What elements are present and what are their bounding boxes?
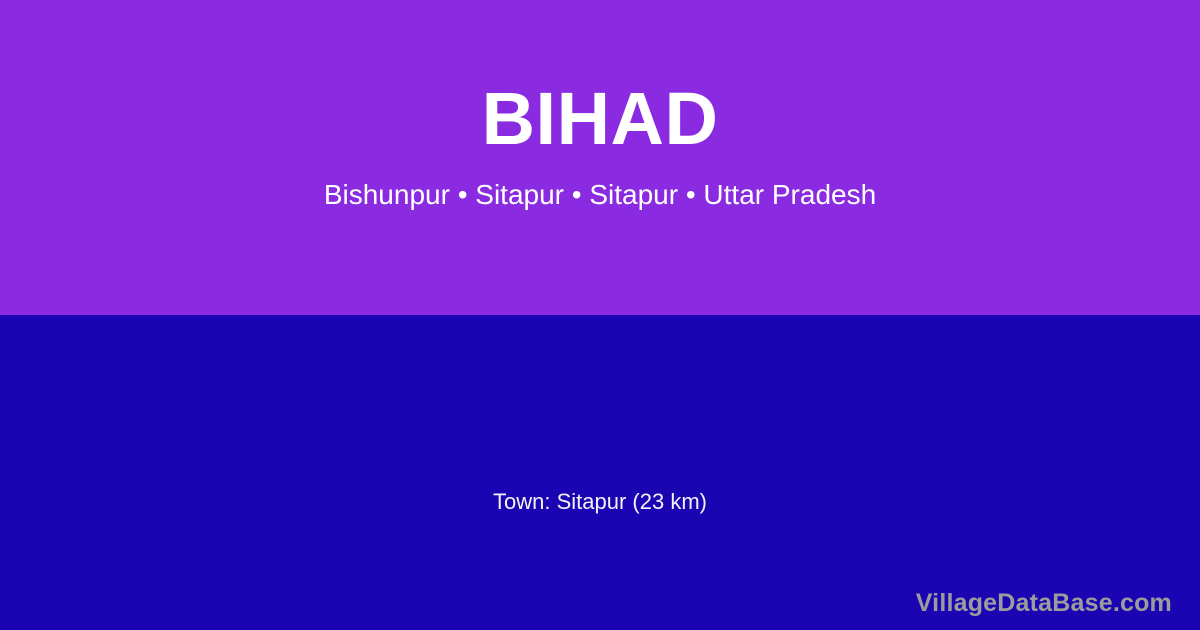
nearest-town-info: Town: Sitapur (23 km) [0, 488, 1200, 517]
site-watermark: VillageDataBase.com [916, 588, 1172, 618]
details-panel: Town: Sitapur (23 km) [0, 315, 1200, 630]
village-info-card: BIHAD Bishunpur • Sitapur • Sitapur • Ut… [0, 0, 1200, 630]
breadcrumb: Bishunpur • Sitapur • Sitapur • Uttar Pr… [324, 178, 876, 212]
hero-banner: BIHAD Bishunpur • Sitapur • Sitapur • Ut… [0, 0, 1200, 315]
page-title: BIHAD [482, 82, 719, 156]
